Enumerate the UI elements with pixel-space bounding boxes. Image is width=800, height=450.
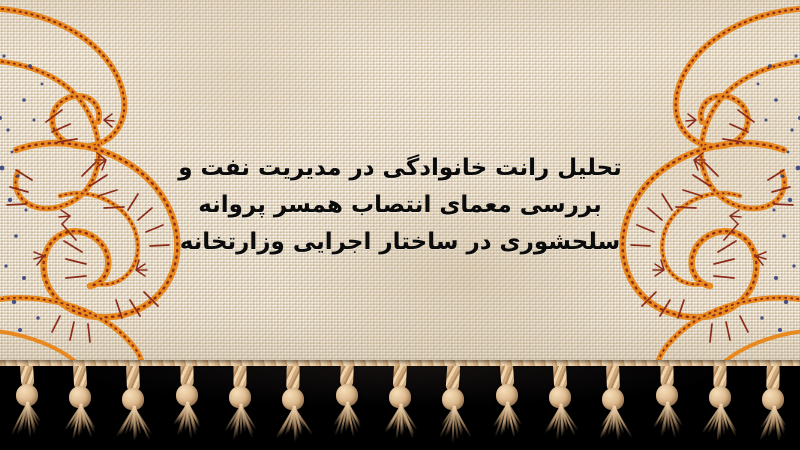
knotted-tassel-fringe: [0, 366, 800, 450]
fringe-tassel: [164, 366, 210, 446]
fringe-tassel: [217, 366, 263, 448]
fringe-tassel: [324, 366, 370, 446]
tassel-skirt: [118, 406, 148, 446]
tassel-skirt: [438, 406, 468, 446]
fringe-tassel: [270, 366, 316, 450]
fringe-tassel: [484, 366, 530, 446]
headline-line-2: بررسی معمای انتصاب همسر پروانه: [150, 187, 650, 224]
tassel-skirt: [545, 404, 575, 444]
fringe-tassel: [590, 366, 636, 450]
fringe-tassel: [110, 366, 156, 450]
tassel-skirt: [705, 404, 735, 444]
tassel-skirt: [225, 404, 255, 444]
fringe-tassel: [537, 366, 583, 448]
tassel-skirt: [278, 406, 308, 446]
fringe-tassel: [4, 366, 50, 446]
headline-line-1: تحلیل رانت خانوادگی در مدیریت نفت و: [150, 150, 650, 187]
headline-title: تحلیل رانت خانوادگی در مدیریت نفت و بررس…: [150, 150, 650, 261]
tassel-skirt: [385, 404, 415, 444]
tassel-skirt: [652, 402, 682, 442]
headline-line-3: سلحشوری در ساختار اجرایی وزارتخانه: [150, 224, 650, 261]
fringe-tassel: [377, 366, 423, 448]
fringe-tassel: [697, 366, 743, 448]
tassel-skirt: [492, 402, 522, 442]
fringe-tassel: [57, 366, 103, 448]
tassel-skirt: [172, 402, 202, 442]
fringe-tassel: [430, 366, 476, 450]
fringe-tassel: [644, 366, 690, 446]
fringe-tassel: [750, 366, 796, 450]
tassel-skirt: [12, 402, 42, 442]
tassel-skirt: [332, 402, 362, 442]
tassel-skirt: [598, 406, 628, 446]
tassel-skirt: [65, 404, 95, 444]
banner-image: تحلیل رانت خانوادگی در مدیریت نفت و بررس…: [0, 0, 800, 450]
tassel-skirt: [758, 406, 788, 446]
